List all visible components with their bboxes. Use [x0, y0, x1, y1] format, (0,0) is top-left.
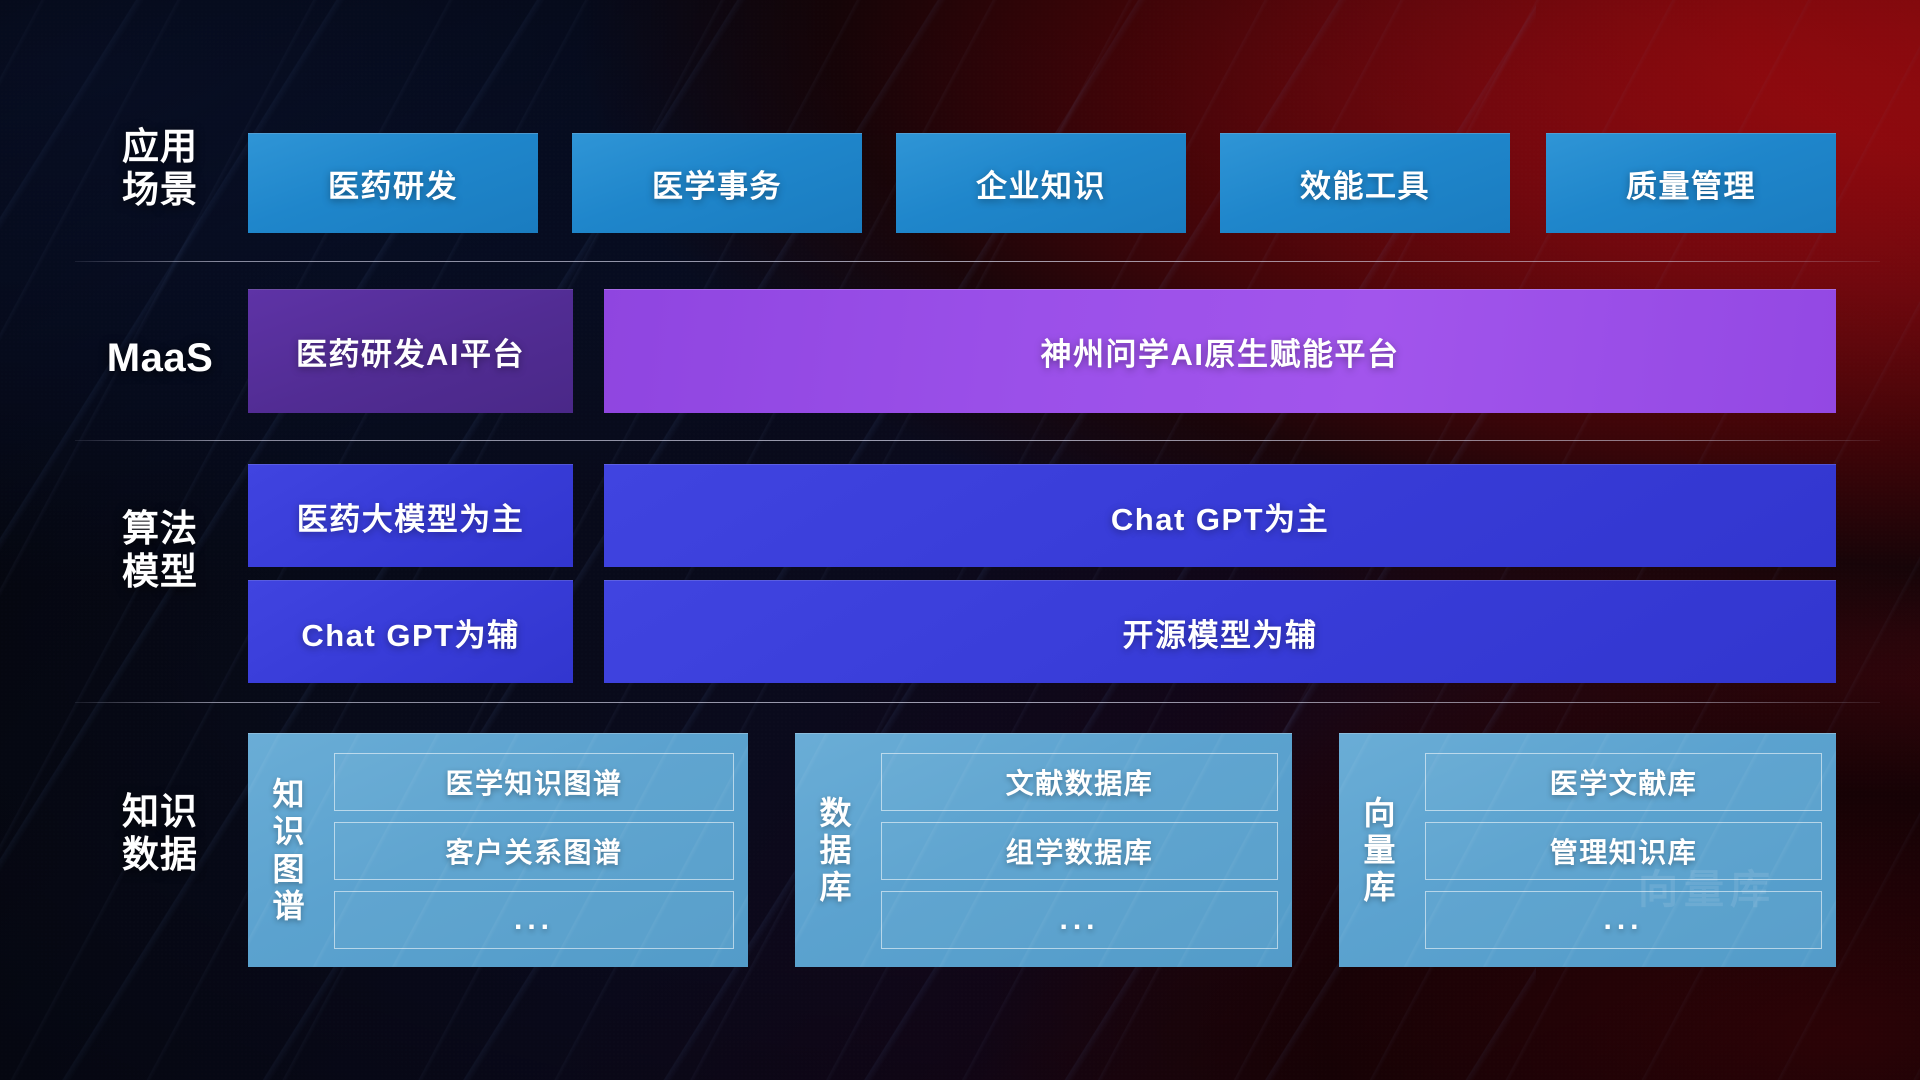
knowledge-panel-title-vector-store: 向量库: [1349, 795, 1411, 906]
knowledge-item-management-knowledge-store[interactable]: 管理知识库: [1425, 822, 1822, 880]
maas-box-shenzhou-platform[interactable]: 神州问学AI原生赋能平台: [604, 289, 1836, 413]
app-scenario-label-3: 企业知识: [976, 161, 1106, 206]
knowledge-item-customer-relation-graph[interactable]: 客户关系图谱: [334, 822, 734, 880]
app-scenario-box-4[interactable]: 效能工具: [1220, 133, 1510, 233]
knowledge-item-list-vector-store: 医学文献库 管理知识库 ...: [1425, 753, 1822, 949]
knowledge-item-medical-knowledge-graph[interactable]: 医学知识图谱: [334, 753, 734, 811]
algo-label-opensource-secondary: 开源模型为辅: [1123, 610, 1318, 655]
knowledge-panel-knowledge-graph[interactable]: 知识图谱 医学知识图谱 客户关系图谱 ...: [248, 733, 748, 967]
row-label-line-2: 场景: [90, 169, 230, 212]
row-label-algo-line-2: 模型: [90, 551, 230, 594]
algo-label-chatgpt-primary: Chat GPT为主: [1111, 494, 1329, 539]
slide-canvas: 应用 场景 医药研发 医学事务 企业知识 效能工具 质量管理 MaaS 医药研发…: [0, 0, 1920, 1080]
row-label-algo-line-1: 算法: [90, 508, 230, 551]
knowledge-item-more-vector-store[interactable]: ...: [1425, 891, 1822, 949]
algo-box-chatgpt-secondary[interactable]: Chat GPT为辅: [248, 580, 573, 683]
knowledge-panel-title-knowledge-graph: 知识图谱: [258, 776, 320, 924]
row-label-algorithm-models: 算法 模型: [90, 508, 230, 594]
knowledge-item-more-knowledge-graph[interactable]: ...: [334, 891, 734, 949]
algo-label-pharma-primary: 医药大模型为主: [297, 494, 525, 539]
divider-3: [75, 702, 1880, 703]
knowledge-item-medical-literature-store[interactable]: 医学文献库: [1425, 753, 1822, 811]
row-label-line-1: 应用: [90, 126, 230, 169]
knowledge-panel-vector-store[interactable]: 向量库 医学文献库 管理知识库 ... 向量库: [1339, 733, 1836, 967]
app-scenario-label-4: 效能工具: [1300, 161, 1430, 206]
app-scenario-label-5: 质量管理: [1626, 161, 1756, 206]
app-scenario-box-2[interactable]: 医学事务: [572, 133, 862, 233]
row-label-knowledge-data: 知识 数据: [90, 791, 230, 877]
algo-box-pharma-primary[interactable]: 医药大模型为主: [248, 464, 573, 567]
app-scenario-label-2: 医学事务: [652, 161, 782, 206]
knowledge-item-omics-database[interactable]: 组学数据库: [881, 822, 1278, 880]
knowledge-panel-title-database: 数据库: [805, 795, 867, 906]
row-label-kd-line-1: 知识: [90, 791, 230, 834]
app-scenario-box-1[interactable]: 医药研发: [248, 133, 538, 233]
maas-box-pharma-ai-platform[interactable]: 医药研发AI平台: [248, 289, 573, 413]
knowledge-item-literature-database[interactable]: 文献数据库: [881, 753, 1278, 811]
app-scenario-label-1: 医药研发: [328, 161, 458, 206]
app-scenario-box-5[interactable]: 质量管理: [1546, 133, 1836, 233]
knowledge-item-more-database[interactable]: ...: [881, 891, 1278, 949]
knowledge-item-list-database: 文献数据库 组学数据库 ...: [881, 753, 1278, 949]
app-scenario-box-3[interactable]: 企业知识: [896, 133, 1186, 233]
row-label-maas-text: MaaS: [90, 335, 230, 381]
row-label-kd-line-2: 数据: [90, 834, 230, 877]
divider-1: [75, 261, 1880, 262]
row-label-maas: MaaS: [90, 335, 230, 381]
row-label-application-scenarios: 应用 场景: [90, 126, 230, 212]
maas-label-pharma-ai-platform: 医药研发AI平台: [296, 329, 525, 374]
algo-box-opensource-secondary[interactable]: 开源模型为辅: [604, 580, 1836, 683]
knowledge-panel-database[interactable]: 数据库 文献数据库 组学数据库 ...: [795, 733, 1292, 967]
algo-label-chatgpt-secondary: Chat GPT为辅: [301, 610, 519, 655]
divider-2: [75, 440, 1880, 441]
algo-box-chatgpt-primary[interactable]: Chat GPT为主: [604, 464, 1836, 567]
knowledge-item-list-knowledge-graph: 医学知识图谱 客户关系图谱 ...: [334, 753, 734, 949]
maas-label-shenzhou-platform: 神州问学AI原生赋能平台: [1041, 329, 1400, 374]
